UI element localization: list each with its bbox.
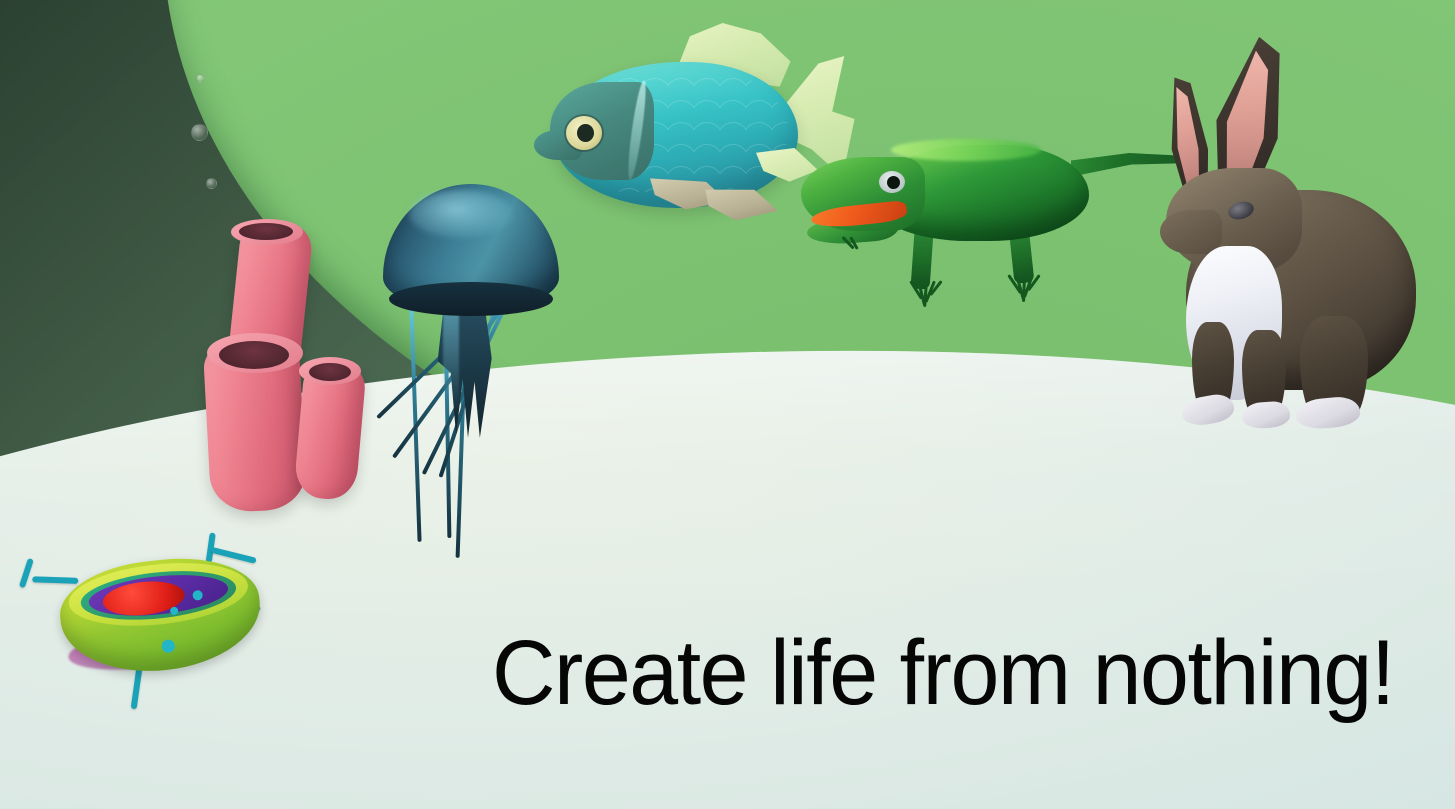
- lizard-front-foot: [903, 281, 947, 311]
- cell-flagellum: [19, 558, 34, 588]
- promo-artwork-scene: Create life from nothing!: [0, 0, 1455, 809]
- creature-rabbit: [1150, 30, 1440, 460]
- rabbit-paw-front-right: [1241, 400, 1291, 429]
- lizard-hind-foot: [1001, 275, 1045, 305]
- cell-flagellum: [211, 547, 257, 564]
- lizard-back-highlight: [891, 139, 1041, 161]
- bubble-small-bottom-icon: [206, 178, 217, 189]
- lizard-pupil: [887, 176, 900, 189]
- bubble-small-top-icon: [196, 74, 205, 83]
- coral-tube-left-opening: [219, 341, 289, 369]
- creature-lizard: [795, 125, 1195, 345]
- bubble-medium-icon: [191, 124, 208, 141]
- creature-coral: [195, 215, 395, 535]
- cell-flagellum: [32, 576, 78, 584]
- coral-tube-right-opening: [309, 363, 351, 381]
- jellyfish-bell-highlight: [409, 190, 513, 238]
- fish-pupil: [577, 124, 594, 142]
- jellyfish-bell-margin: [389, 282, 553, 316]
- tagline-text: Create life from nothing!: [492, 627, 1394, 719]
- creature-cell: [9, 505, 316, 714]
- rabbit-snout: [1160, 210, 1222, 254]
- coral-tube-tall-opening: [239, 223, 293, 240]
- rabbit-paw-front-left: [1180, 392, 1236, 429]
- fish-pectoral-fin: [703, 185, 780, 232]
